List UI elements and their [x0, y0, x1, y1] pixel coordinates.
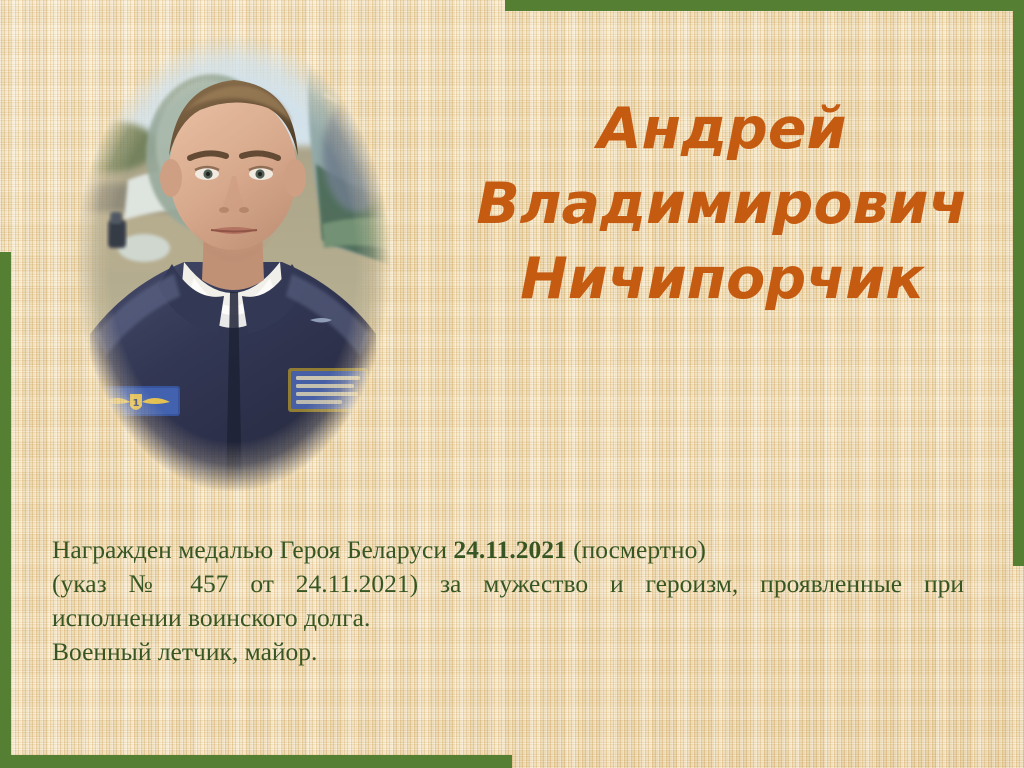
title-line-last: Ничипорчик — [452, 242, 992, 317]
caption-award-date: 24.11.2021 — [453, 535, 566, 564]
caption-line-4: Военный летчик, майор. — [52, 635, 964, 669]
portrait-photo-frame: 1 — [72, 34, 394, 492]
caption-posthumous-note: (посмертно) — [567, 535, 706, 564]
green-bar-right — [1013, 0, 1024, 566]
portrait-photo: 1 — [72, 34, 394, 492]
portrait-photo-image: 1 — [72, 34, 394, 492]
green-bar-top — [505, 0, 1024, 11]
green-bar-left — [0, 252, 11, 768]
title-line-first: Андрей — [452, 92, 992, 167]
caption-award-text: Награжден медалью Героя Беларуси — [52, 535, 453, 564]
presentation-slide: 1 Андрей Владимирович Ничипорчик Награжд… — [0, 0, 1024, 768]
caption-line-2: (указ № 457 от 24.11.2021) за мужество и… — [52, 567, 964, 601]
green-bar-bottom — [0, 755, 512, 768]
slide-title: Андрей Владимирович Ничипорчик — [452, 92, 992, 318]
caption-line-3: исполнении воинского долга. — [52, 601, 964, 635]
award-caption: Награжден медалью Героя Беларуси 24.11.2… — [52, 533, 964, 669]
caption-line-1: Награжден медалью Героя Беларуси 24.11.2… — [52, 533, 964, 567]
title-line-middle: Владимирович — [452, 167, 992, 242]
